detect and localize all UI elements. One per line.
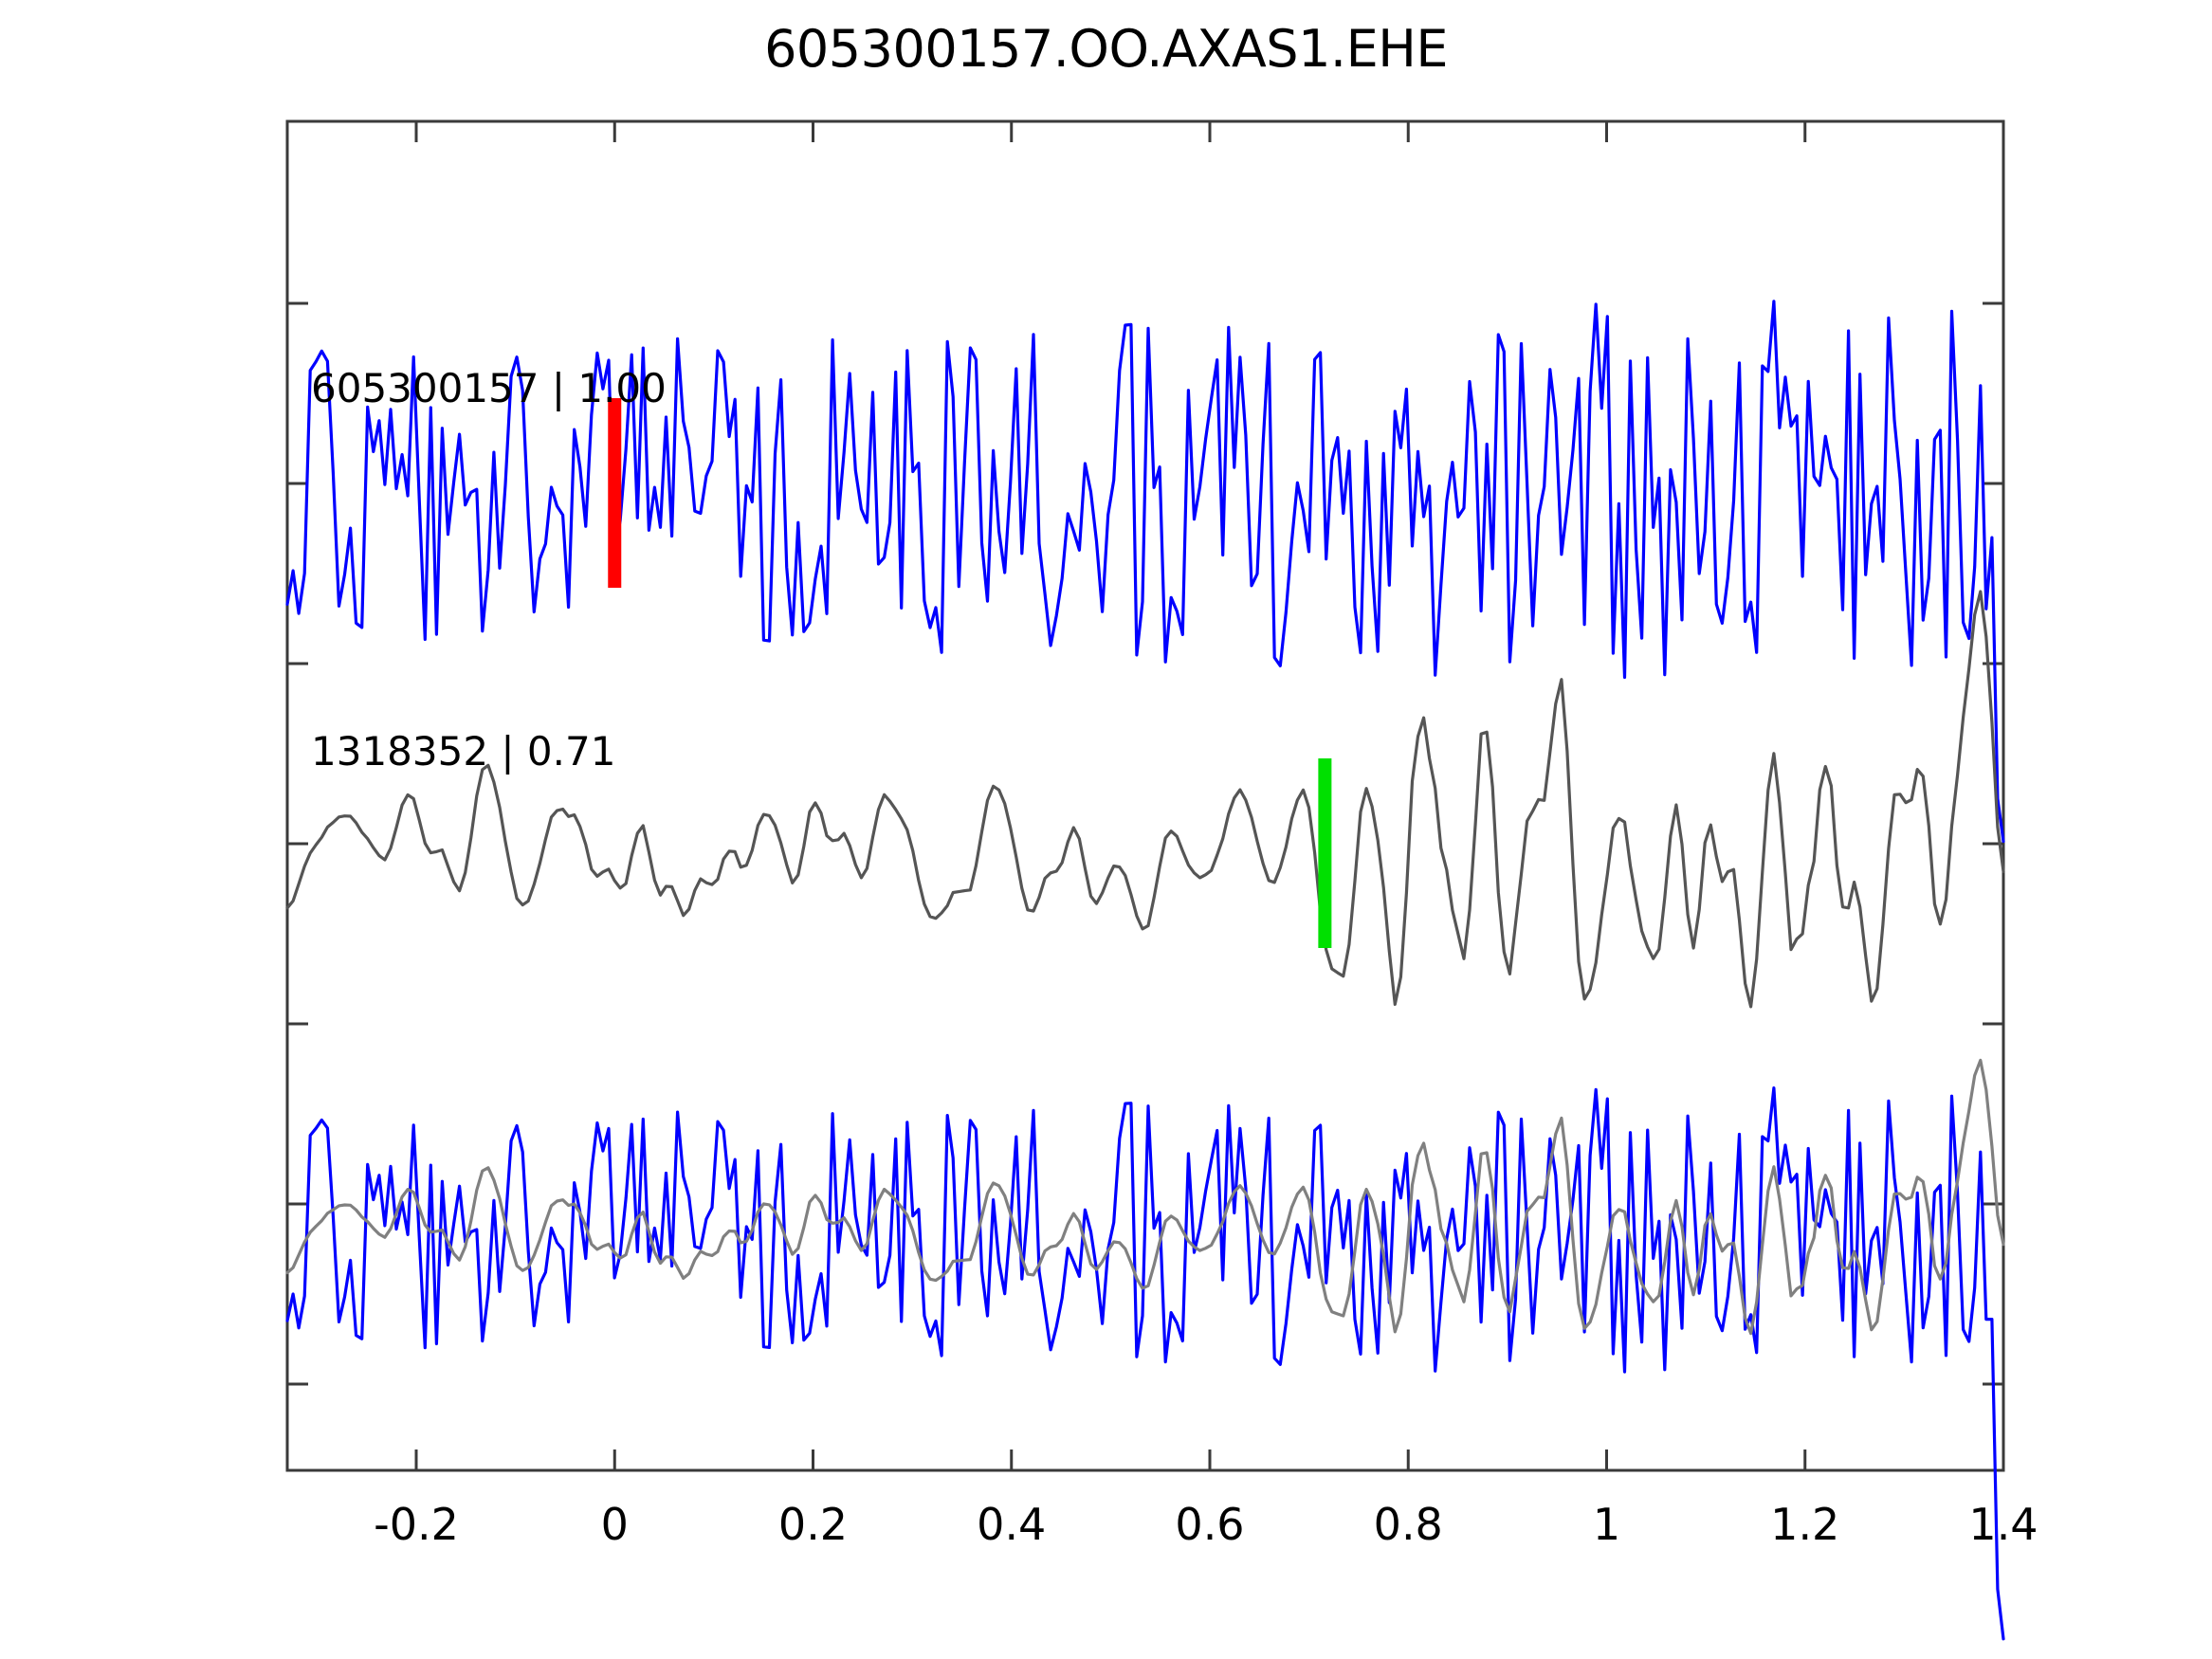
pick-marker-detection-trace <box>1318 758 1331 948</box>
waveform-traces <box>287 301 2003 1639</box>
x-tick-label: 1.2 <box>1770 1499 1839 1550</box>
waveform-trace-605300157-overlay <box>287 1088 2003 1639</box>
x-tick-label: 1 <box>1593 1499 1620 1550</box>
seismic-waveform-figure: 605300157.OO.AXAS1.EHE -0.200.20.40.60.8… <box>0 0 2212 1659</box>
trace-annotation-label: 1318352 | 0.71 <box>311 728 615 775</box>
x-tick-label: -0.2 <box>374 1499 459 1550</box>
pick-markers <box>608 398 1331 948</box>
x-tick-label: 0.8 <box>1374 1499 1443 1550</box>
pick-marker-template-trace <box>608 398 621 588</box>
waveform-trace-1318352 <box>287 592 2003 1007</box>
trace-annotation-label: 605300157 | 1.00 <box>311 365 667 411</box>
x-tick-label: 0.2 <box>778 1499 848 1550</box>
x-tick-label: 0 <box>601 1499 629 1550</box>
x-tick-label: 1.4 <box>1968 1499 2038 1550</box>
x-tick-label: 0.4 <box>977 1499 1046 1550</box>
x-tick-label: 0.6 <box>1175 1499 1244 1550</box>
waveform-plot-canvas <box>0 0 2212 1659</box>
